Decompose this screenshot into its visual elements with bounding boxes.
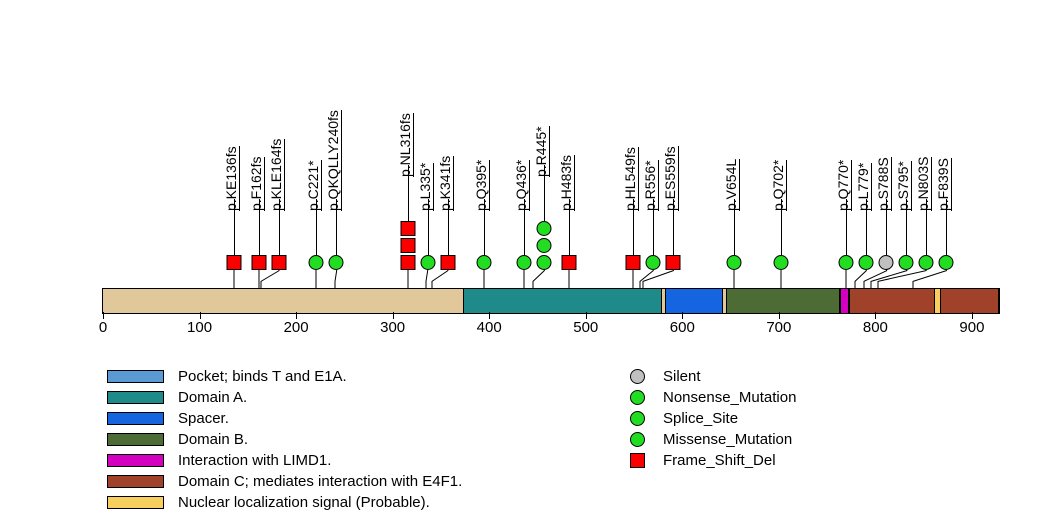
axis-tick-label: 800 bbox=[863, 320, 888, 335]
mutation-label: p.N803S bbox=[916, 157, 932, 211]
domain-segment bbox=[665, 289, 723, 313]
mutation-marker[interactable] bbox=[329, 255, 344, 270]
axis-tick bbox=[586, 312, 587, 319]
mutation-label: p.NL316fs bbox=[398, 113, 414, 177]
mutation-marker[interactable] bbox=[309, 255, 324, 270]
mutation-marker[interactable] bbox=[536, 221, 551, 236]
domain-legend-item: Nuclear localization signal (Probable). bbox=[107, 492, 462, 513]
axis-tick-label: 200 bbox=[284, 320, 309, 335]
mutation-legend-label: Silent bbox=[663, 369, 701, 384]
mutation-marker[interactable] bbox=[227, 255, 242, 270]
axis-tick-label: 500 bbox=[573, 320, 598, 335]
domain-legend-item: Domain A. bbox=[107, 387, 462, 408]
mutation-marker[interactable] bbox=[401, 255, 416, 270]
mutation-label: p.C221* bbox=[306, 160, 322, 211]
axis-tick-label: 600 bbox=[670, 320, 695, 335]
mutation-label: p.HL549fs bbox=[623, 147, 639, 211]
domain-legend-item: Pocket; binds T and E1A. bbox=[107, 366, 462, 387]
mutation-label: p.R445* bbox=[534, 126, 550, 177]
axis-tick bbox=[296, 312, 297, 319]
domain-legend-swatch bbox=[107, 370, 164, 383]
mutation-label: p.F162fs bbox=[249, 157, 265, 211]
mutation-legend-swatch bbox=[630, 411, 645, 426]
mutation-legend-label: Frame_Shift_Del bbox=[663, 453, 776, 468]
domain-legend-item: Domain C; mediates interaction with E4F1… bbox=[107, 471, 462, 492]
mutation-label: p.F839S bbox=[936, 158, 952, 211]
mutation-marker[interactable] bbox=[401, 238, 416, 253]
axis-tick-label: 700 bbox=[766, 320, 791, 335]
mutation-marker[interactable] bbox=[727, 255, 742, 270]
domain-legend-label: Nuclear localization signal (Probable). bbox=[178, 495, 430, 510]
axis-tick-label: 400 bbox=[477, 320, 502, 335]
mutation-marker[interactable] bbox=[666, 255, 681, 270]
mutation-label: p.R556* bbox=[643, 160, 659, 211]
domain-legend-swatch bbox=[107, 496, 164, 509]
mutation-legend-item: Frame_Shift_Del bbox=[626, 450, 796, 471]
mutation-marker[interactable] bbox=[272, 255, 287, 270]
mutation-label: p.S788S bbox=[876, 157, 892, 211]
domain-legend-label: Domain A. bbox=[178, 390, 247, 405]
mutation-label: p.L335* bbox=[418, 163, 434, 211]
domain-legend-swatch bbox=[107, 412, 164, 425]
mutation-label: p.K341fs bbox=[438, 156, 454, 211]
domain-legend-item: Interaction with LIMD1. bbox=[107, 450, 462, 471]
mutation-legend-label: Nonsense_Mutation bbox=[663, 390, 796, 405]
mutation-legend-label: Splice_Site bbox=[663, 411, 738, 426]
mutation-label: p.Q395* bbox=[474, 160, 490, 211]
mutation-label: p.KE136fs bbox=[224, 146, 240, 211]
mutation-label: p.V654L bbox=[724, 159, 740, 211]
mutation-marker[interactable] bbox=[536, 238, 551, 253]
axis-tick-label: 100 bbox=[187, 320, 212, 335]
domain-legend-label: Interaction with LIMD1. bbox=[178, 453, 331, 468]
mutation-marker[interactable] bbox=[477, 255, 492, 270]
domain-legend-label: Domain B. bbox=[178, 432, 248, 447]
domain-legend: Pocket; binds T and E1A.Domain A.Spacer.… bbox=[107, 366, 462, 513]
mutation-legend-item: Silent bbox=[626, 366, 796, 387]
mutation-legend-swatch bbox=[630, 390, 645, 405]
mutation-marker[interactable] bbox=[773, 255, 788, 270]
mutation-marker[interactable] bbox=[516, 255, 531, 270]
mutation-marker[interactable] bbox=[939, 255, 954, 270]
domain-legend-item: Domain B. bbox=[107, 429, 462, 450]
mutation-marker[interactable] bbox=[562, 255, 577, 270]
domain-legend-swatch bbox=[107, 454, 164, 467]
mutation-label: p.L779* bbox=[856, 163, 872, 211]
mutation-legend-swatch bbox=[630, 453, 645, 468]
axis-tick bbox=[103, 312, 104, 319]
mutation-label: p.ES559fs bbox=[663, 146, 679, 211]
axis-tick-label: 900 bbox=[959, 320, 984, 335]
lollipop-plot: 0100200300400500600700800900 p.KE136fsp.… bbox=[0, 0, 1047, 524]
mutation-marker[interactable] bbox=[441, 255, 456, 270]
mutation-legend-swatch bbox=[630, 369, 645, 384]
domain-legend-label: Pocket; binds T and E1A. bbox=[178, 369, 347, 384]
mutation-label: p.H483fs bbox=[559, 155, 575, 211]
axis-tick bbox=[682, 312, 683, 319]
mutation-legend-swatch bbox=[630, 432, 645, 447]
axis-tick bbox=[489, 312, 490, 319]
mutation-label: p.Q770* bbox=[836, 160, 852, 211]
domain-segment bbox=[463, 289, 662, 313]
mutation-marker[interactable] bbox=[839, 255, 854, 270]
domain-segment bbox=[934, 289, 941, 313]
mutation-label: p.S795* bbox=[896, 161, 912, 211]
domain-legend-label: Spacer. bbox=[178, 411, 229, 426]
axis-tick bbox=[200, 312, 201, 319]
domain-legend-swatch bbox=[107, 391, 164, 404]
domain-legend-item: Spacer. bbox=[107, 408, 462, 429]
mutation-label: p.QKQLLY240fs bbox=[326, 110, 342, 211]
mutation-label: p.Q702* bbox=[771, 160, 787, 211]
mutation-marker[interactable] bbox=[401, 221, 416, 236]
axis-tick bbox=[875, 312, 876, 319]
axis-tick bbox=[393, 312, 394, 319]
mutation-legend-item: Splice_Site bbox=[626, 408, 796, 429]
domain-segment bbox=[840, 289, 850, 313]
mutation-legend-item: Missense_Mutation bbox=[626, 429, 796, 450]
domain-segment bbox=[726, 289, 840, 313]
axis-tick-label: 0 bbox=[99, 320, 107, 335]
mutation-marker[interactable] bbox=[536, 255, 551, 270]
domain-segment bbox=[849, 289, 999, 313]
domain-legend-swatch bbox=[107, 475, 164, 488]
axis-tick-label: 300 bbox=[380, 320, 405, 335]
axis-tick bbox=[972, 312, 973, 319]
domain-legend-label: Domain C; mediates interaction with E4F1… bbox=[178, 474, 462, 489]
mutation-type-legend: SilentNonsense_MutationSplice_SiteMissen… bbox=[626, 366, 796, 471]
mutation-legend-label: Missense_Mutation bbox=[663, 432, 792, 447]
mutation-label: p.KLE164fs bbox=[269, 139, 285, 211]
mutation-legend-item: Nonsense_Mutation bbox=[626, 387, 796, 408]
axis-tick bbox=[779, 312, 780, 319]
mutation-label: p.Q436* bbox=[514, 160, 530, 211]
domain-legend-swatch bbox=[107, 433, 164, 446]
